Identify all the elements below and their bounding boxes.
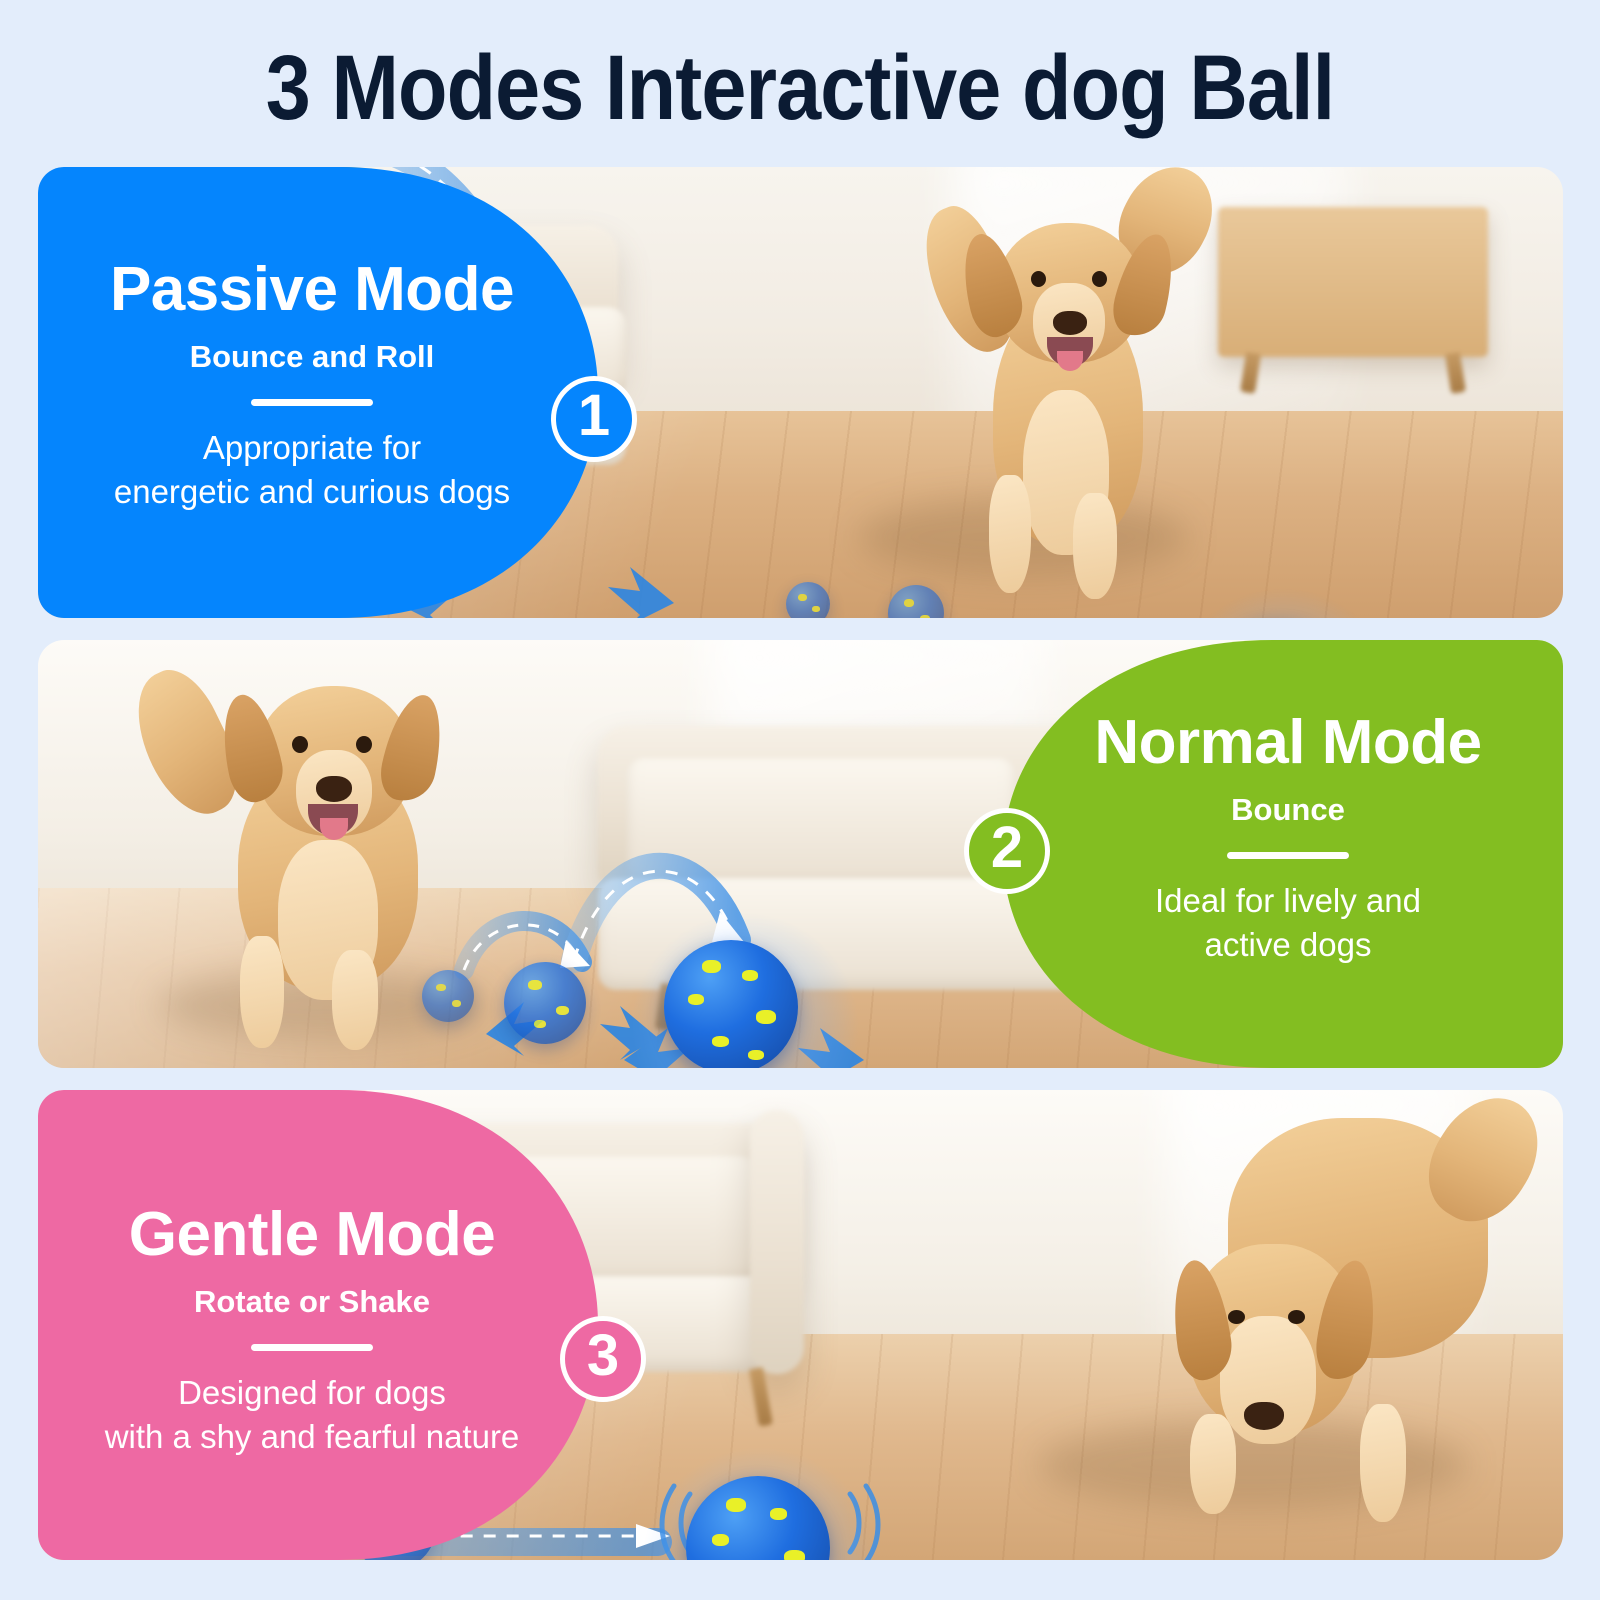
step-number: 3: [587, 1327, 619, 1385]
infographic-root: 3 Modes Interactive dog Ball: [0, 0, 1600, 1600]
mode-description-line2: energetic and curious dogs: [62, 470, 562, 514]
mode-panel-normal: Normal Mode Bounce Ideal for lively and …: [38, 640, 1563, 1068]
step-number: 1: [578, 387, 610, 445]
dog-nose: [316, 776, 352, 802]
mode-title: Gentle Mode: [52, 1200, 572, 1270]
dog-eye: [292, 736, 308, 753]
dog-nose: [1244, 1402, 1284, 1430]
divider: [1227, 852, 1349, 859]
sofa-arm: [750, 1110, 804, 1374]
mode-description-line1: Appropriate for: [62, 426, 562, 470]
normal-mode-text: Normal Mode Bounce Ideal for lively and …: [1035, 708, 1541, 967]
ball-trail: [786, 582, 830, 618]
ball-trail: [504, 962, 586, 1044]
mode-panel-gentle: Gentle Mode Rotate or Shake Designed for…: [38, 1090, 1563, 1560]
ball-main: [664, 940, 798, 1068]
ball-trail: [422, 970, 474, 1022]
mode-description-line2: active dogs: [1035, 923, 1541, 967]
step-badge-3: 3: [560, 1316, 646, 1402]
mode-title: Normal Mode: [1035, 708, 1541, 778]
dog-nose: [1053, 311, 1087, 335]
sofa-cushion: [626, 758, 1016, 888]
mode-panel-passive: Passive Mode Bounce and Roll Appropriate…: [38, 167, 1563, 618]
dog-eye: [1092, 271, 1107, 287]
page-title: 3 Modes Interactive dog Ball: [96, 36, 1504, 140]
mode-subtitle: Bounce: [1035, 790, 1541, 830]
dog-illustration: [873, 175, 1233, 605]
mode-subtitle: Bounce and Roll: [62, 337, 562, 377]
divider: [251, 1344, 373, 1351]
mode-subtitle: Rotate or Shake: [52, 1282, 572, 1322]
dog-eye: [1228, 1310, 1245, 1324]
step-badge-1: 1: [551, 376, 637, 462]
sideboard: [1218, 207, 1488, 357]
mode-description-line1: Designed for dogs: [52, 1371, 572, 1415]
mode-title: Passive Mode: [62, 255, 562, 325]
dog-eye: [1031, 271, 1046, 287]
dog-illustration: [1038, 1090, 1558, 1544]
mode-description-line1: Ideal for lively and: [1035, 879, 1541, 923]
step-badge-2: 2: [964, 808, 1050, 894]
gentle-mode-text: Gentle Mode Rotate or Shake Designed for…: [52, 1200, 572, 1459]
mode-description-line2: with a shy and fearful nature: [52, 1415, 572, 1459]
passive-mode-text: Passive Mode Bounce and Roll Appropriate…: [62, 255, 562, 514]
dog-eye: [1288, 1310, 1305, 1324]
dog-eye: [356, 736, 372, 753]
divider: [251, 399, 373, 406]
step-number: 2: [991, 819, 1023, 877]
